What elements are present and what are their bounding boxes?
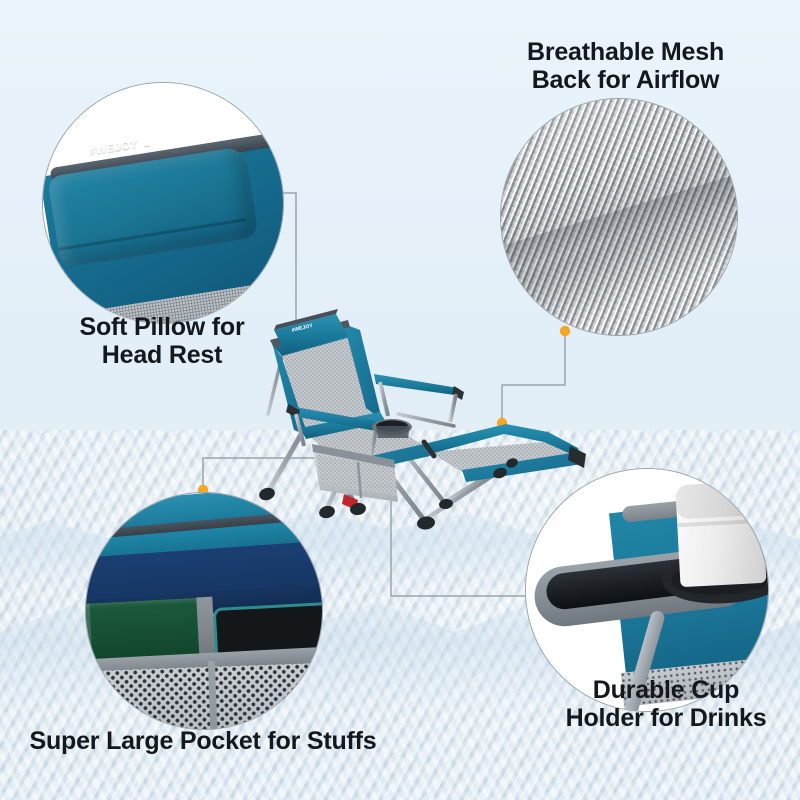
callout-circle-pillow: #WEJOY ▲ (42, 82, 284, 324)
caption-mesh-line-1: Breathable Mesh (488, 38, 763, 66)
cup-travel-mug-lid (675, 481, 767, 520)
chair-cup-holder (372, 419, 412, 438)
caption-cup-holder: Durable Cup Holder for Drinks (545, 676, 787, 733)
callout-circle-pocket (85, 492, 323, 730)
mesh-lighting-overlay (501, 99, 737, 335)
caption-pocket-line-1: Super Large Pocket for Stuffs (8, 727, 398, 755)
caption-pillow-line-2: Head Rest (22, 341, 302, 369)
caption-pillow: Soft Pillow for Head Rest (22, 313, 302, 370)
caption-cup-line-2: Holder for Drinks (545, 704, 787, 732)
caption-pocket: Super Large Pocket for Stuffs (8, 727, 398, 755)
infographic-canvas: #WEJOY (0, 0, 800, 800)
caption-mesh-line-2: Back for Airflow (488, 66, 763, 94)
caption-mesh: Breathable Mesh Back for Airflow (488, 38, 763, 95)
pocket-mesh-fabric (85, 662, 323, 730)
chair-armrest-far (374, 374, 464, 422)
wejoy-mark-icon: ▲ (140, 136, 153, 150)
caption-pillow-line-1: Soft Pillow for (22, 313, 302, 341)
caption-cup-line-1: Durable Cup (545, 676, 787, 704)
callout-circle-mesh (500, 98, 738, 336)
